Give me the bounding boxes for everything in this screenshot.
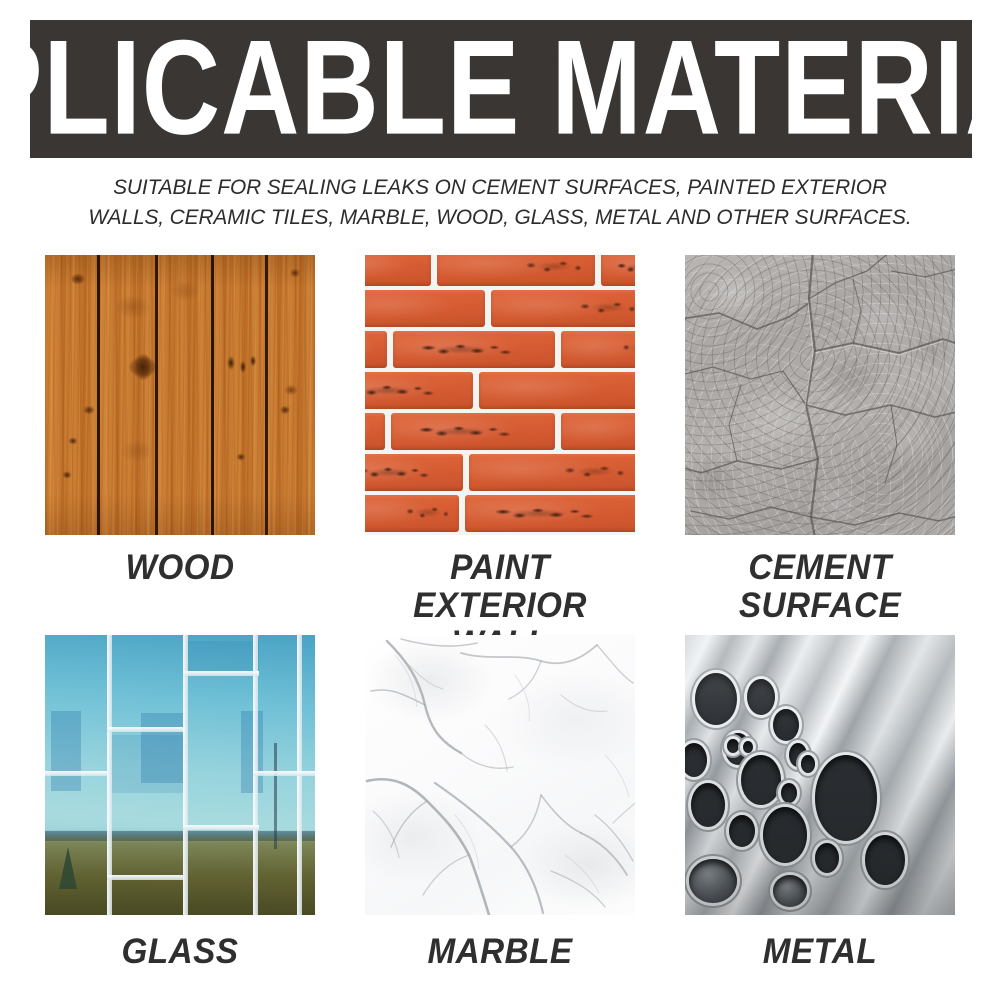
glass-curtain-wall-photo: [45, 635, 315, 915]
brick: [437, 255, 595, 286]
glass-mullion-vertical: [107, 635, 112, 915]
brick: [601, 255, 635, 286]
brick-row: [365, 255, 635, 288]
brick-row: [365, 370, 635, 411]
material-label-metal: METAL: [692, 933, 949, 971]
brick: [365, 255, 431, 286]
glass-mullion-horizontal: [107, 727, 183, 732]
glass-mullion-vertical: [183, 635, 188, 915]
brick: [365, 331, 387, 368]
brick-row: [365, 288, 635, 329]
glass-mullion-horizontal: [183, 825, 259, 830]
brick: [391, 413, 555, 450]
cracked-concrete-photo: [685, 255, 955, 535]
brick-row: [365, 493, 635, 534]
glass-mullion-horizontal: [253, 771, 315, 776]
material-card-metal: METAL: [685, 635, 955, 971]
material-card-glass: GLASS: [45, 635, 315, 971]
red-brick-wall-photo: [365, 255, 635, 535]
brick: [469, 454, 635, 491]
brick-row: [365, 329, 635, 370]
brick: [365, 372, 473, 409]
steel-pipes-photo: [685, 635, 955, 915]
glass-mullion-horizontal: [183, 671, 259, 676]
glass-panel: [185, 641, 259, 673]
material-card-paint-exterior-wall: PAINT EXTERIOR WALL: [365, 255, 635, 663]
brick: [491, 290, 635, 327]
cement-cracks-layer: [685, 255, 955, 535]
glass-reflection: [51, 711, 81, 791]
subtitle-description: SUITABLE FOR SEALING LEAKS ON CEMENT SUR…: [73, 172, 927, 232]
material-card-wood: WOOD: [45, 255, 315, 587]
brick: [365, 454, 463, 491]
brick: [393, 331, 555, 368]
brick: [365, 290, 485, 327]
material-label-marble: MARBLE: [372, 933, 629, 971]
glass-lamppost-reflection: [274, 743, 277, 849]
glass-reflection: [241, 711, 263, 793]
glass-mullion-horizontal: [107, 875, 183, 880]
material-label-cement-surface: CEMENT SURFACE: [692, 549, 949, 625]
glass-church-spire-reflection: [59, 847, 77, 889]
brick: [561, 413, 635, 450]
materials-grid: WOOD: [45, 255, 955, 915]
brick: [465, 495, 635, 532]
wood-planks-photo: [45, 255, 315, 535]
wood-seams-layer: [45, 255, 315, 535]
material-label-wood: WOOD: [52, 549, 309, 587]
material-label-glass: GLASS: [52, 933, 309, 971]
brick: [365, 495, 459, 532]
brick-row: [365, 411, 635, 452]
brick: [561, 331, 635, 368]
material-card-cement-surface: CEMENT SURFACE: [685, 255, 955, 625]
glass-mullion-horizontal: [45, 771, 107, 776]
marble-veins-layer: [365, 635, 635, 915]
page-title: APPLICABLE MATERIALS: [30, 21, 972, 156]
glass-panel: [111, 735, 185, 793]
title-banner: APPLICABLE MATERIALS: [30, 20, 972, 158]
white-marble-slab-photo: [365, 635, 635, 915]
brick-row: [365, 452, 635, 493]
brick: [479, 372, 635, 409]
brick: [365, 413, 385, 450]
material-card-marble: MARBLE: [365, 635, 635, 971]
metal-shading-layer: [685, 635, 955, 915]
